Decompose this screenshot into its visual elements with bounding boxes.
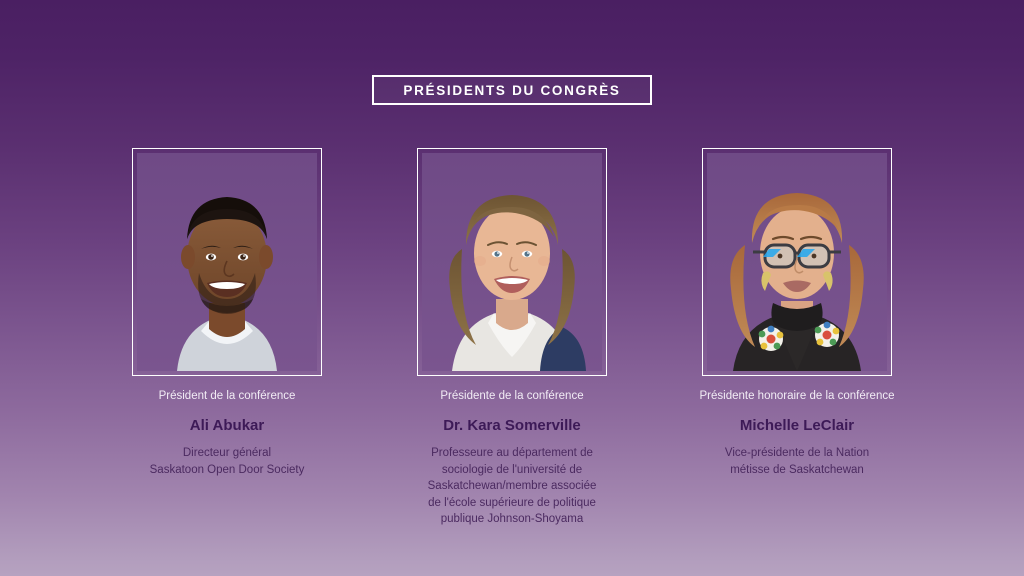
person-role: Présidente honoraire de la conférence — [700, 388, 895, 404]
description-line: Saskatchewan/membre associée — [428, 478, 597, 495]
person-description: Professeure au département de sociologie… — [428, 445, 597, 528]
person-card: Présidente honoraire de la conférence Mi… — [655, 148, 940, 528]
description-line: Directeur général — [150, 445, 305, 462]
person-role: Président de la conférence — [159, 388, 296, 404]
portrait-michelle-leclair — [707, 153, 887, 371]
person-card: Présidente de la conférence Dr. Kara Som… — [370, 148, 655, 528]
description-line: publique Johnson-Shoyama — [428, 511, 597, 528]
description-line: de l'école supérieure de politique — [428, 495, 597, 512]
person-description: Vice-présidente de la Nation métisse de … — [725, 445, 869, 478]
person-name: Michelle LeClair — [740, 416, 854, 435]
person-description: Directeur général Saskatoon Open Door So… — [150, 445, 305, 478]
photo-frame — [702, 148, 892, 376]
people-columns: Président de la conférence Ali Abukar Di… — [0, 148, 1024, 528]
description-line: sociologie de l'université de — [428, 462, 597, 479]
portrait-ali-abukar — [137, 153, 317, 371]
description-line: Vice-présidente de la Nation — [725, 445, 869, 462]
description-line: métisse de Saskatchewan — [725, 462, 869, 479]
title-banner: PRÉSIDENTS DU CONGRÈS — [372, 75, 652, 105]
photo-frame — [132, 148, 322, 376]
person-role: Présidente de la conférence — [440, 388, 583, 404]
slide-root: PRÉSIDENTS DU CONGRÈS — [0, 0, 1024, 576]
person-name: Dr. Kara Somerville — [443, 416, 581, 435]
photo-frame — [417, 148, 607, 376]
person-card: Président de la conférence Ali Abukar Di… — [85, 148, 370, 528]
person-name: Ali Abukar — [190, 416, 264, 435]
description-line: Saskatoon Open Door Society — [150, 462, 305, 479]
title-banner-text: PRÉSIDENTS DU CONGRÈS — [403, 83, 620, 98]
portrait-kara-somerville — [422, 153, 602, 371]
description-line: Professeure au département de — [428, 445, 597, 462]
